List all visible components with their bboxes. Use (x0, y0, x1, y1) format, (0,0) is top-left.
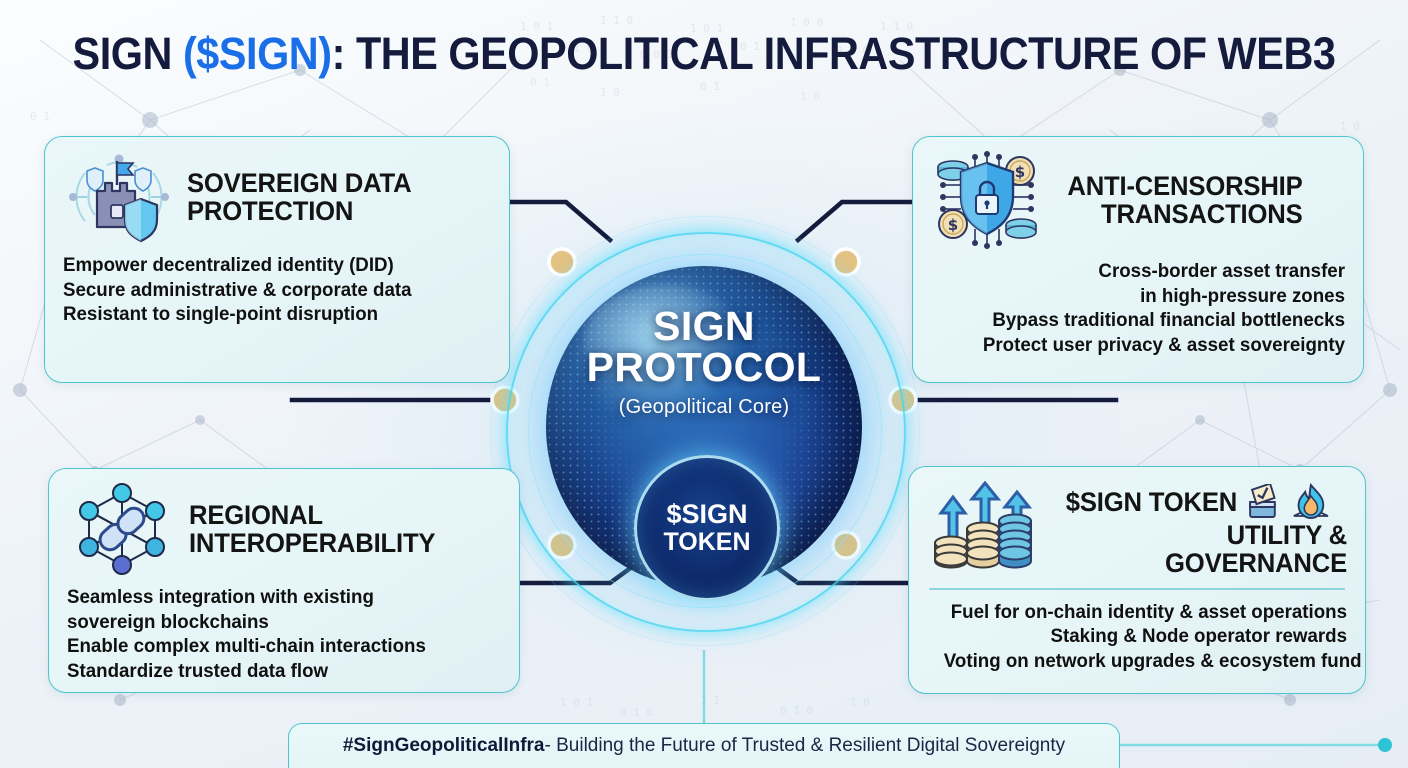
bullet-line: Protect user privacy & asset sovereignty (948, 333, 1345, 358)
svg-text:0 1: 0 1 (30, 110, 50, 123)
page-title: SIGN ($SIGN): THE GEOPOLITICAL INFRASTRU… (56, 30, 1351, 77)
card-title-line2: UTILITY & GOVERNANCE (1066, 521, 1347, 577)
bullet-line: Enable complex multi-chain interactions (67, 634, 484, 659)
svg-text:$: $ (1015, 163, 1025, 181)
title-accent: ($SIGN) (183, 28, 332, 79)
card-bullets: Seamless integration with existing sover… (67, 585, 484, 683)
card-sign-token-utility-governance[interactable]: $SIGN TOKEN UTILIT (908, 466, 1366, 694)
bullet-line: Staking & Node operator rewards (944, 624, 1347, 649)
flame-icon (1290, 483, 1332, 521)
svg-text:1 1: 1 1 (700, 694, 720, 707)
core-text-block: SIGN PROTOCOL (Geopolitical Core) (484, 306, 924, 419)
sign-token-badge[interactable]: $SIGN TOKEN (634, 455, 780, 601)
bullet-line: sovereign blockchains (67, 610, 484, 635)
coin-stack-1 (935, 537, 967, 568)
footer-banner: #SignGeopoliticalInfra - Building the Fu… (288, 723, 1120, 768)
footer-end-node (1378, 738, 1392, 752)
card-title: REGIONAL INTEROPERABILITY (189, 501, 435, 557)
card-regional-interoperability[interactable]: REGIONAL INTEROPERABILITY Seamless integ… (48, 468, 520, 693)
core-subtitle: (Geopolitical Core) (484, 396, 924, 419)
footer-tagline: - Building the Future of Trusted & Resil… (545, 735, 1066, 757)
card-bullets: Cross-border asset transfer in high-pres… (948, 259, 1345, 357)
card-header: REGIONAL INTEROPERABILITY (67, 483, 501, 575)
core-title-line1: SIGN (484, 306, 924, 347)
bullet-line: Seamless integration with existing (67, 585, 484, 610)
card-header: $ $ ANTI-CENSORSHIP TRANSACTIONS (931, 151, 1345, 249)
card-title-line1: SOVEREIGN DATA (187, 169, 411, 197)
svg-text:1 0: 1 0 (800, 90, 820, 103)
infographic-canvas: 1 0 10 1 01 1 0 0 0 11 0 10 1 1 1 0 00 1… (0, 0, 1408, 768)
svg-text:1 0: 1 0 (850, 696, 870, 709)
token-label-line1: $SIGN (666, 500, 747, 529)
title-part-2: : THE GEOPOLITICAL INFRASTRUCTURE OF WEB… (332, 28, 1336, 79)
shield-lock-coins-icon: $ $ (931, 151, 1043, 249)
title-part-1: SIGN (73, 28, 183, 79)
card-header: $SIGN TOKEN UTILIT (927, 481, 1347, 579)
bullet-line: Cross-border asset transfer (948, 259, 1345, 284)
svg-text:0 1: 0 1 (700, 80, 720, 93)
sign-protocol-core[interactable]: SIGN PROTOCOL (Geopolitical Core) $SIGN … (484, 210, 924, 650)
coin-stack-3 (999, 515, 1031, 568)
bullet-line: Secure administrative & corporate data (63, 278, 474, 303)
card-title-line2: PROTECTION (187, 197, 411, 225)
card-divider (929, 588, 1345, 590)
coins-growth-arrows-icon (927, 481, 1039, 579)
svg-text:0 1 0: 0 1 0 (780, 704, 813, 717)
svg-text:0 1 0: 0 1 0 (620, 706, 653, 719)
card-title-line2: TRANSACTIONS (1067, 200, 1302, 228)
card-bullets: Fuel for on-chain identity & asset opera… (944, 600, 1347, 674)
card-title-line1: $SIGN TOKEN (1066, 488, 1237, 516)
svg-text:$: $ (948, 216, 958, 234)
core-title-line2: PROTOCOL (484, 347, 924, 388)
dollar-coin-bottom-left: $ (939, 210, 967, 238)
svg-text:1 1 0: 1 1 0 (600, 14, 633, 27)
svg-text:1 0 1: 1 0 1 (560, 696, 593, 709)
bullet-line: Bypass traditional financial bottlenecks (948, 308, 1345, 333)
card-title-line2: INTEROPERABILITY (189, 529, 435, 557)
card-title-line1: ANTI-CENSORSHIP (1067, 172, 1302, 200)
card-header: SOVEREIGN DATA PROTECTION (63, 151, 491, 243)
arrow-small (941, 497, 965, 541)
token-label-line2: TOKEN (663, 529, 750, 556)
bullet-line: Empower decentralized identity (DID) (63, 253, 474, 278)
network-chainlink-icon (67, 483, 177, 575)
bullet-line: Resistant to single-point disruption (63, 302, 474, 327)
coin-stack-2 (967, 523, 999, 568)
card-title: $SIGN TOKEN UTILIT (1066, 483, 1347, 577)
card-title: ANTI-CENSORSHIP TRANSACTIONS (1067, 172, 1302, 228)
ballot-box-icon (1245, 484, 1283, 520)
svg-text:1 0: 1 0 (1340, 120, 1360, 133)
card-title-line1: REGIONAL (189, 501, 435, 529)
coin-stack-bottom-right (1006, 219, 1036, 238)
bullet-line: Standardize trusted data flow (67, 659, 484, 684)
card-sovereign-data-protection[interactable]: SOVEREIGN DATA PROTECTION Empower decent… (44, 136, 510, 383)
card-bullets: Empower decentralized identity (DID) Sec… (63, 253, 474, 327)
footer-hashtag: #SignGeopoliticalInfra (343, 735, 545, 757)
card-anti-censorship-transactions[interactable]: $ $ ANTI-CENSORSHIP TRANSACTIONS Cross-b… (912, 136, 1364, 383)
bullet-line: Fuel for on-chain identity & asset opera… (944, 600, 1347, 625)
svg-text:1 0: 1 0 (600, 86, 620, 99)
bullet-line: in high-pressure zones (948, 284, 1345, 309)
card-title: SOVEREIGN DATA PROTECTION (187, 169, 411, 225)
castle-shield-icon (63, 151, 175, 243)
bullet-line: Voting on network upgrades & ecosystem f… (944, 649, 1347, 674)
